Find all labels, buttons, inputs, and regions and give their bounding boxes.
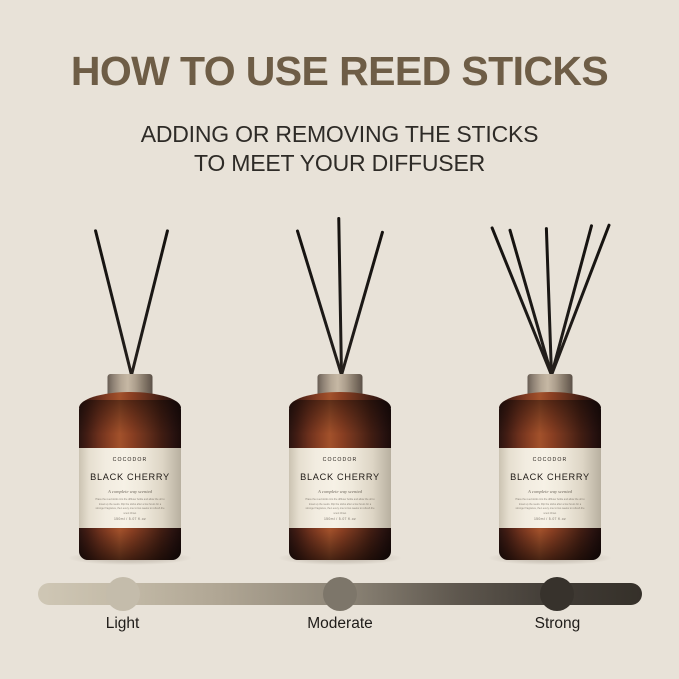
label-tagline: A complete way scented <box>108 489 152 494</box>
bottle-label: COCODOR BLACK CHERRY A complete way scen… <box>79 448 181 528</box>
intensity-slider[interactable] <box>38 583 642 605</box>
reed-stick <box>550 223 610 375</box>
label-scent: BLACK CHERRY <box>300 472 380 482</box>
label-fine-print: Place the reed sticks into the diffuser … <box>304 498 376 517</box>
subtitle-line-1: ADDING OR REMOVING THE STICKS <box>0 120 679 149</box>
bottle-row: COCODOR BLACK CHERRY A complete way scen… <box>0 190 679 560</box>
intensity-label-strong: Strong <box>535 615 581 633</box>
page-subtitle: ADDING OR REMOVING THE STICKS TO MEET YO… <box>0 120 679 178</box>
reed-stick <box>94 229 133 375</box>
reed-stick <box>340 230 384 375</box>
subtitle-line-2: TO MEET YOUR DIFFUSER <box>0 149 679 178</box>
label-volume: 150ml / 5.07 fl.oz <box>79 517 181 521</box>
intensity-dot-light[interactable] <box>106 577 140 611</box>
diffuser-bottle-moderate: COCODOR BLACK CHERRY A complete way scen… <box>250 190 430 560</box>
intensity-dot-strong[interactable] <box>540 577 574 611</box>
reed-diffuser-infographic: HOW TO USE REED STICKS ADDING OR REMOVIN… <box>0 0 679 679</box>
label-fine-print: Place the reed sticks into the diffuser … <box>94 498 166 517</box>
intensity-dot-moderate[interactable] <box>323 577 357 611</box>
diffuser-bottle-light: COCODOR BLACK CHERRY A complete way scen… <box>40 190 220 560</box>
reed-stick <box>550 224 593 375</box>
intensity-slider-labels: LightModerateStrong <box>0 615 679 645</box>
reed-stick-group-moderate <box>250 200 430 375</box>
label-fine-print: Place the reed sticks into the diffuser … <box>514 498 586 517</box>
label-tagline: A complete way scented <box>318 489 362 494</box>
label-brand: COCODOR <box>113 457 148 463</box>
label-volume: 150ml / 5.07 fl.oz <box>289 517 391 521</box>
reed-stick <box>130 229 169 375</box>
reed-stick-group-light <box>40 200 220 375</box>
page-title: HOW TO USE REED STICKS <box>0 50 679 93</box>
label-scent: BLACK CHERRY <box>510 472 590 482</box>
label-tagline: A complete way scented <box>528 489 572 494</box>
reed-stick-group-strong <box>460 200 640 375</box>
label-volume: 150ml / 5.07 fl.oz <box>499 517 601 521</box>
reed-stick <box>337 217 342 375</box>
reed-stick <box>296 229 343 375</box>
label-brand: COCODOR <box>533 457 568 463</box>
label-scent: BLACK CHERRY <box>90 472 170 482</box>
intensity-label-moderate: Moderate <box>307 615 372 633</box>
diffuser-bottle-strong: COCODOR BLACK CHERRY A complete way scen… <box>460 190 640 560</box>
bottle-label: COCODOR BLACK CHERRY A complete way scen… <box>289 448 391 528</box>
label-brand: COCODOR <box>323 457 358 463</box>
intensity-label-light: Light <box>106 615 140 633</box>
bottle-label: COCODOR BLACK CHERRY A complete way scen… <box>499 448 601 528</box>
